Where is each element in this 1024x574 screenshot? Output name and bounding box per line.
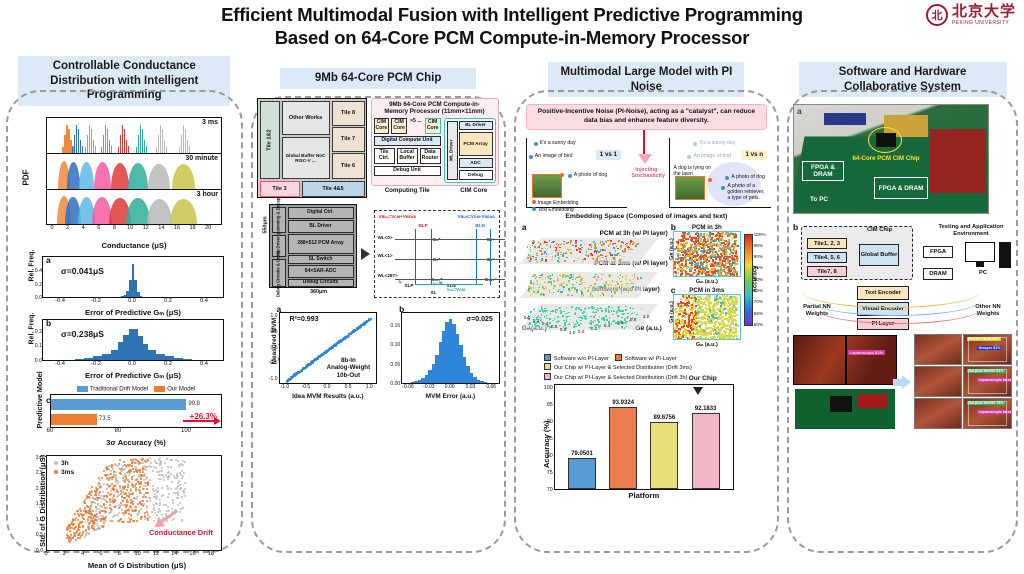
map-point xyxy=(694,269,696,271)
scatter-point xyxy=(145,466,147,468)
circuit-label-g287p: G₂₈₇⁺ xyxy=(431,277,443,283)
hist-b-xticks: -0.4-0.20.00.20.4 xyxy=(42,361,224,371)
plot3d-point xyxy=(610,240,612,242)
scatter-xtick: 12 xyxy=(153,551,159,557)
hist-xtick: -0.4 xyxy=(55,361,65,367)
scatter-point xyxy=(153,509,155,511)
scatter-point xyxy=(170,488,172,490)
map-point xyxy=(700,339,702,340)
map-point xyxy=(730,263,732,265)
scatter-point xyxy=(171,459,173,461)
scatter-point xyxy=(84,507,86,509)
scatter-point xyxy=(105,516,107,518)
map-point xyxy=(684,296,686,298)
plot3d-point xyxy=(636,314,638,316)
plot3d-point xyxy=(562,256,564,258)
map-point xyxy=(735,332,737,334)
map-point xyxy=(704,321,706,323)
embed-left-image-thumbnail xyxy=(532,174,562,198)
scatter-point xyxy=(120,493,122,495)
plot3d-point xyxy=(536,261,538,263)
plot3d-point xyxy=(578,317,580,319)
scatter-point xyxy=(170,466,172,468)
scatter-point xyxy=(177,460,179,462)
plot3d-point xyxy=(541,314,543,316)
scatter-point xyxy=(153,507,155,509)
plot3d-point xyxy=(600,250,602,252)
plot3d-point xyxy=(581,247,583,249)
accbar-yticks: 707580859095100 xyxy=(541,384,554,500)
embed-left-yaxis xyxy=(526,138,527,208)
scatter-point xyxy=(145,496,147,498)
plot3d-point xyxy=(580,323,582,325)
scatter-point xyxy=(121,521,123,523)
circuit-label-slp: SLP xyxy=(405,283,414,288)
map-point xyxy=(720,244,722,246)
scatter-point xyxy=(177,504,179,506)
plot3d-point xyxy=(535,293,537,295)
map-point xyxy=(727,241,729,243)
map-point xyxy=(734,296,736,298)
map-point xyxy=(698,242,700,244)
layout-debug-circuits: Debug Circuits xyxy=(288,279,354,287)
mvm-a-xtick: 0.5 xyxy=(345,384,352,390)
plot3d-point xyxy=(629,248,631,250)
plot3d-point xyxy=(580,244,582,246)
map-point xyxy=(734,241,736,243)
plot3d-point xyxy=(588,289,590,291)
map-point xyxy=(684,309,686,311)
scatter-point xyxy=(171,519,173,521)
pdf-gauss xyxy=(172,164,195,189)
column-3-body: Positive-Incentive Noise (PI-Noise), act… xyxy=(512,100,781,504)
pcb-red-connector xyxy=(930,129,986,193)
plot3d-point xyxy=(555,309,557,311)
map-point xyxy=(714,311,716,313)
map-point xyxy=(678,322,680,324)
map-point xyxy=(693,339,695,340)
map-point xyxy=(705,255,707,257)
processor-block-diagram: 9Mb 64-Core PCM Compute-in- Memory Proce… xyxy=(371,98,499,187)
plot3d-point xyxy=(557,243,559,245)
map-point xyxy=(707,308,709,310)
hist-xtick: -0.2 xyxy=(91,298,101,304)
local-buffer: Local Buffer xyxy=(397,148,418,164)
scatter-point xyxy=(72,537,74,539)
map-point xyxy=(678,330,680,332)
map-b-ylabel: Gʀ (a.u.) xyxy=(669,238,675,260)
map-point xyxy=(675,339,677,340)
map-point xyxy=(725,248,727,250)
scatter-point xyxy=(88,496,90,498)
map-point xyxy=(731,322,733,324)
plot3d-point xyxy=(603,243,605,245)
poster-columns: Controllable Conductance Distribution wi… xyxy=(0,56,1024,561)
plot3d-point xyxy=(567,294,569,296)
scatter-point xyxy=(161,514,163,516)
scatter-point xyxy=(129,519,131,521)
scatter-point xyxy=(101,477,103,479)
plot3d-point xyxy=(632,279,634,281)
map-point xyxy=(718,240,720,242)
detection-cell-plain xyxy=(914,366,963,397)
plot3d-point xyxy=(568,288,570,290)
map-point xyxy=(717,328,719,330)
plot3d-xtick: 0.2 xyxy=(533,319,540,324)
scatter-point xyxy=(94,502,96,504)
hist-ytick: 0.0 xyxy=(35,358,42,364)
scatter-point xyxy=(143,468,145,470)
map-point xyxy=(685,271,687,273)
plot3d-point xyxy=(573,274,575,276)
map-point xyxy=(710,240,712,242)
plot3d-point xyxy=(619,288,621,290)
map-point xyxy=(725,331,727,333)
plot3d-point xyxy=(563,243,565,245)
scatter-point xyxy=(183,492,185,494)
pcm-cell-circuit: Vʙʟₚ=Vᴄᴍ+Vʀᴇᴀᴅ Vʙʟɴ=Vᴄᴍ-Vʀᴇᴀᴅ BLP BLN WL… xyxy=(374,210,500,298)
plot3d-point xyxy=(624,327,626,329)
map-point xyxy=(701,338,703,340)
plot3d-point xyxy=(569,282,571,284)
plot3d-point xyxy=(557,260,559,262)
plot3d-point xyxy=(576,277,578,279)
plot3d-point xyxy=(541,259,543,261)
plot3d-point xyxy=(616,254,618,256)
map-point xyxy=(736,275,738,276)
scatter-point xyxy=(92,517,94,519)
circuit-label-wl0: WL<0> xyxy=(378,235,393,240)
pdf-gauss xyxy=(111,163,129,189)
plot3d-point xyxy=(530,294,532,296)
map-point xyxy=(707,238,709,240)
scatter-point xyxy=(90,491,92,493)
plot3d-point xyxy=(571,287,573,289)
plot3d-point xyxy=(605,308,607,310)
computing-tile-caption: Computing Tile xyxy=(371,187,444,194)
scatter-point xyxy=(155,489,157,491)
accuracy-ytick: 70 xyxy=(547,487,553,493)
plot3d-point xyxy=(575,245,577,247)
scatter-point xyxy=(151,511,153,513)
plot3d-point xyxy=(546,242,548,244)
column-pcm-chip: 9Mb 64-Core PCM Chip Tile 1&2 Other Work… xyxy=(249,56,508,561)
pcm-array-block: PCM Array xyxy=(459,132,493,156)
map-point xyxy=(726,335,728,337)
hist-bar xyxy=(84,358,93,360)
scatter-point xyxy=(146,476,148,478)
hist-b-sigma-annotation: σ=0.238μS xyxy=(61,329,104,339)
plot3d-point xyxy=(537,290,539,292)
map-b-title: PCM in 3h xyxy=(673,224,741,231)
colorbar-tick: 70% xyxy=(754,299,763,304)
plot3d-point xyxy=(552,274,554,276)
map-point xyxy=(694,317,696,319)
pdf-xtick: 14 xyxy=(158,225,164,231)
map-point xyxy=(726,276,728,277)
die-region-tile45: Tile 4&5 xyxy=(302,181,365,197)
scatter-point xyxy=(147,519,149,521)
plot3d-point xyxy=(568,290,570,292)
plot3d-point xyxy=(533,287,535,289)
plot3d-point xyxy=(578,258,580,260)
plot3d-point xyxy=(563,289,565,291)
mvm-a-xtick: 0.0 xyxy=(324,384,331,390)
scatter-point xyxy=(99,491,101,493)
plot3d-point xyxy=(533,283,535,285)
map-point xyxy=(720,302,722,304)
plot3d-point xyxy=(555,312,557,314)
scatter-point xyxy=(160,519,162,521)
plot3d-point xyxy=(536,255,538,257)
hist-bar xyxy=(102,354,111,360)
plot3d-point xyxy=(546,244,548,246)
map-point xyxy=(712,233,714,235)
hist-bar xyxy=(147,350,156,360)
plot3d-point xyxy=(550,281,552,283)
plot3d-point xyxy=(608,275,610,277)
hist-b-axes: 0.00.10.2 σ=0.238μS xyxy=(42,319,224,361)
scatter-point xyxy=(105,520,107,522)
scatter-point xyxy=(111,520,113,522)
map-point xyxy=(707,317,709,319)
map-point xyxy=(713,250,715,252)
map-point xyxy=(691,239,693,241)
logo-seal-icon: 北 xyxy=(926,4,948,26)
plot3d-point xyxy=(527,257,529,259)
plot3d-xtick: 0.4 xyxy=(542,322,549,327)
map-point xyxy=(734,264,736,266)
pdf-panel-1: 30 minute10⁰10⁻¹10⁻² xyxy=(46,153,222,189)
plot3d-point xyxy=(610,254,612,256)
scatter-point xyxy=(98,477,100,479)
plot3d-point xyxy=(627,316,629,318)
computing-tile-block: CIM Core CIM Core ×5 ... CIM Core Digita… xyxy=(374,118,441,184)
mvm-a-axes: R²=0.993 8b-In Analog-Weight 10b-Out xyxy=(279,312,378,384)
tile-group-2: Tile4, 5, 6 xyxy=(807,252,847,263)
hist-a-sigma-annotation: σ=0.041μS xyxy=(61,266,104,276)
hist-xtick: 0.0 xyxy=(128,298,136,304)
pdf-gauss xyxy=(94,162,111,189)
map-point xyxy=(691,332,693,334)
scatter-point xyxy=(85,529,87,531)
mvm-b-ytick: 0.15 xyxy=(390,323,400,329)
scatter-point xyxy=(147,484,149,486)
plot3d-point xyxy=(637,244,639,246)
scatter-point xyxy=(104,510,106,512)
plot3d-point xyxy=(566,257,568,259)
map-point xyxy=(722,270,724,272)
plot3d-point xyxy=(557,279,559,281)
scatter-point xyxy=(160,460,162,462)
plot3d-point xyxy=(600,286,602,288)
plot3d-point xyxy=(631,249,633,251)
map-point xyxy=(705,328,707,330)
scatter-point xyxy=(123,514,125,516)
map-point xyxy=(686,276,688,277)
map-point xyxy=(732,237,734,239)
accuracy-bar-0 xyxy=(568,458,596,489)
plot3d-point xyxy=(538,246,540,248)
scatter-point xyxy=(163,476,165,478)
plot3d-point xyxy=(573,326,575,328)
map-point xyxy=(677,339,679,340)
plot3d-point xyxy=(600,295,602,297)
plot3d-point xyxy=(608,261,610,263)
column-4-body: a 64-Core PCM CIM Chip FPGA & DRAM FPGA … xyxy=(785,100,1020,433)
cbar-xtick: 80 xyxy=(115,428,122,434)
plot3d-point xyxy=(588,248,590,250)
scatter-point xyxy=(180,487,182,489)
map-point xyxy=(727,300,729,302)
plot3d-point xyxy=(627,317,629,319)
cbar-0 xyxy=(51,414,97,425)
plot3d-point xyxy=(609,243,611,245)
scatter-point xyxy=(137,503,139,505)
mvm-b-xtick: -0.03 xyxy=(423,384,434,390)
map-point xyxy=(713,243,715,245)
tile-layout-diagram: Programming & Decap WL Driver Debug Circ… xyxy=(269,204,357,288)
map-point xyxy=(725,233,727,235)
plot3d-point xyxy=(581,320,583,322)
map-point xyxy=(719,308,721,310)
map-point xyxy=(721,255,723,257)
plot3d-point xyxy=(563,286,565,288)
map-point xyxy=(730,327,732,329)
hist-b-yticks: 0.00.10.2 xyxy=(30,320,43,360)
plot3d-point xyxy=(590,323,592,325)
plot3d-point xyxy=(625,278,627,280)
plot3d-point xyxy=(617,253,619,255)
plot3d-point xyxy=(559,289,561,291)
plot3d-point xyxy=(546,286,548,288)
map-point xyxy=(677,268,679,270)
map-point xyxy=(730,308,732,310)
plot3d-point xyxy=(545,277,547,279)
scatter-point xyxy=(129,521,131,523)
plot3d-point xyxy=(611,307,613,309)
plot3d-point xyxy=(579,248,581,250)
scatter-drift-annotation: Conductance Drift xyxy=(149,529,213,537)
cbar-xlabel: 3σ Accuracy (%) xyxy=(50,438,222,447)
scatter-point xyxy=(72,524,74,526)
scatter-point xyxy=(142,500,144,502)
plot3d-point xyxy=(606,255,608,257)
accuracy-ytick: 75 xyxy=(547,470,553,476)
map-point xyxy=(713,275,715,276)
map-point xyxy=(712,337,714,339)
fpga-node: FPGA xyxy=(923,246,953,258)
map-point xyxy=(681,263,683,265)
map-point xyxy=(731,316,733,318)
scatter-point xyxy=(149,457,151,459)
scatter-xtick: 2 xyxy=(63,551,66,557)
scatter-point xyxy=(74,513,76,515)
map-point xyxy=(700,276,702,277)
plot3d-point xyxy=(616,245,618,247)
accuracy-legend-row: Our Chip w/ PI-Layer & Selected Distribu… xyxy=(544,363,773,373)
plot3d-point xyxy=(602,257,604,259)
our-chip-annotation: Our Chip xyxy=(689,375,717,382)
cim-core-1: CIM Core xyxy=(374,118,390,134)
map-point xyxy=(717,236,719,238)
map-point xyxy=(680,250,682,252)
plot3d-xtick: 0.6 xyxy=(551,325,558,330)
map-point xyxy=(682,315,684,317)
scatter-point xyxy=(134,462,136,464)
plot3d-point xyxy=(544,316,546,318)
map-point xyxy=(689,314,691,316)
plot3d-point xyxy=(572,279,574,281)
accuracy-ytick: 100 xyxy=(544,385,553,391)
map-point xyxy=(711,246,713,248)
hist-a-yticks: 0.00.20.4 xyxy=(30,257,43,297)
map-point xyxy=(700,306,702,308)
plot3d-point xyxy=(588,307,590,309)
scatter-point xyxy=(147,513,149,515)
pdf-xtick: 18 xyxy=(189,225,195,231)
map-point xyxy=(717,254,719,256)
mvm-a-xlabel: Idea MVM Results (a.u.) xyxy=(279,393,378,400)
plot3d-point xyxy=(555,255,557,257)
hist-b-xlabel: Error of Predictive Gₘ (μS) xyxy=(42,371,224,380)
scatter-point xyxy=(110,493,112,495)
plot3d-point xyxy=(557,254,559,256)
scatter-point xyxy=(130,514,132,516)
map-point xyxy=(679,310,681,312)
cbar-value-label: 99.8 xyxy=(188,401,200,407)
scatter-point xyxy=(184,482,186,484)
plot3d-point xyxy=(591,254,593,256)
map-point xyxy=(731,245,733,247)
system-architecture-diagram: b CIM Chip Tile1, 2, 3 Tile4, 5, 6 Tile7… xyxy=(793,218,1012,328)
map-point xyxy=(693,300,695,302)
accuracy-legend-swatch xyxy=(544,373,551,380)
map-point xyxy=(674,263,676,265)
map-point xyxy=(674,327,676,329)
monitor-detection-label: Laparoscopic 81% xyxy=(848,350,885,355)
map-point xyxy=(711,315,713,317)
surgical-demo-figure: Laparoscopic 81% Electric Hook 66%Graspe… xyxy=(793,334,1012,429)
scatter-point xyxy=(140,478,142,480)
embed-text-1: It's a sunny day xyxy=(540,140,576,146)
plot3d-point xyxy=(557,252,559,254)
map-point xyxy=(697,254,699,256)
embed-dot-text-2 xyxy=(529,155,533,159)
plot3d-point xyxy=(615,258,617,260)
plot3d-point xyxy=(530,311,532,313)
map-point xyxy=(699,336,701,338)
map-point xyxy=(693,246,695,248)
accbar-xlabel: Platform xyxy=(554,491,734,500)
plot3d-point xyxy=(611,254,613,256)
hist-bar xyxy=(93,356,102,360)
plot3d-point xyxy=(601,318,603,320)
map-point xyxy=(694,297,696,299)
cim-chip-package xyxy=(876,133,896,147)
plot3d-point xyxy=(605,315,607,317)
scatter-point xyxy=(88,512,90,514)
cim-core-detail: WL Driver BL Driver PCM Array ADC Debug xyxy=(444,118,496,184)
map-point xyxy=(717,326,719,328)
map-point xyxy=(694,243,696,245)
hist-xtick: -0.2 xyxy=(91,361,101,367)
map-c-ylabel: Gʀ (a.u.) xyxy=(669,301,675,323)
scatter-point xyxy=(149,497,151,499)
scatter-point xyxy=(69,530,71,532)
scatter-point xyxy=(127,486,129,488)
map-point xyxy=(736,301,738,303)
